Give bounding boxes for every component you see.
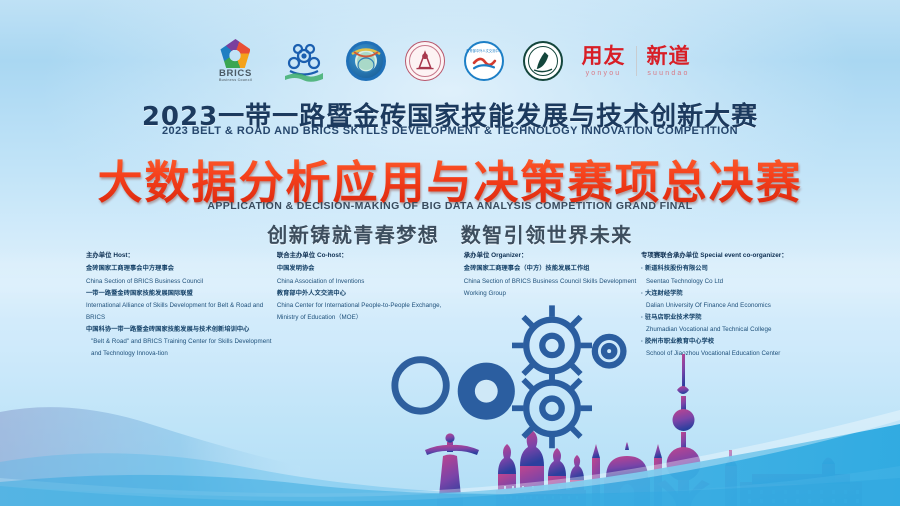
list-item: 中国发明协会 China Association of Inventions [277,263,464,287]
host-heading: 主办单位 Host： [86,250,277,262]
brics-business-council-logo: BRICS Business Council [210,38,262,84]
competition-title-en: 2023 BELT & ROAD AND BRICS SKTLLS DEVELO… [0,125,900,137]
wordmark-divider [636,46,637,76]
coorganizer-en-1: Seentao Technology Co Ltd [641,276,826,288]
shindao-wordmark: 新道 suundao [647,46,691,77]
organizer-heading: 承办单位 Organizer： [464,250,641,262]
bottom-illustration [0,346,900,506]
brics-star-icon [220,39,250,68]
skills-alliance-knot-logo [281,40,327,82]
host-cn-1: 金砖国家工商理事会中方理事会 [86,263,277,275]
yonyou-wordmark-cn: 用友 [582,46,626,67]
yonyou-wordmark-en: yonyou [586,70,622,77]
brics-logo-subtext: Business Council [219,79,252,83]
brics-logo-word: BRICS [219,69,252,79]
shindao-wordmark-en: suundao [647,70,689,77]
event-slogan: 创新铸就青春梦想 数智引领世界未来 [0,219,900,248]
host-en-1: China Section of BRICS Business Council [86,276,277,288]
coorganizer-heading: 专项赛联合承办单位 Special event co-organizer： [641,250,826,262]
poster-canvas: BRICS Business Council [0,0,900,506]
yonyou-shindao-wordmark-group: 用友 yonyou 新道 suundao [582,39,691,83]
yonyou-wordmark: 用友 yonyou [582,46,626,77]
education-exchange-seal-logo: 教育部中外人文交流中心 [464,41,504,81]
list-item: 金砖国家工商理事会中方理事会 China Section of BRICS Bu… [86,263,277,287]
list-item: · 新道科技股份有限公司 Seentao Technology Co Ltd [641,263,826,287]
right-gear-cluster [752,294,900,454]
cohost-heading: 联合主办单位 Co-host： [277,250,464,262]
cohost-cn-1: 中国发明协会 [277,263,464,275]
vocational-college-seal-logo [523,41,563,81]
organizer-cn-1: 金砖国家工商理事会（中方）技能发展工作组 [464,263,641,275]
event-headline-en: APPLICATION & DECISION-MAKING OF BIG DAT… [0,200,900,212]
svg-text:教育部中外人文交流中心: 教育部中外人文交流中心 [466,48,502,53]
sponsor-logo-row: BRICS Business Council [0,36,900,86]
invention-association-seal-logo [405,41,445,81]
globe-seal-logo [346,41,386,81]
shindao-wordmark-cn: 新道 [647,46,691,67]
coorganizer-cn-1: · 新道科技股份有限公司 [641,263,826,275]
cohost-en-1: China Association of Inventions [277,276,464,288]
